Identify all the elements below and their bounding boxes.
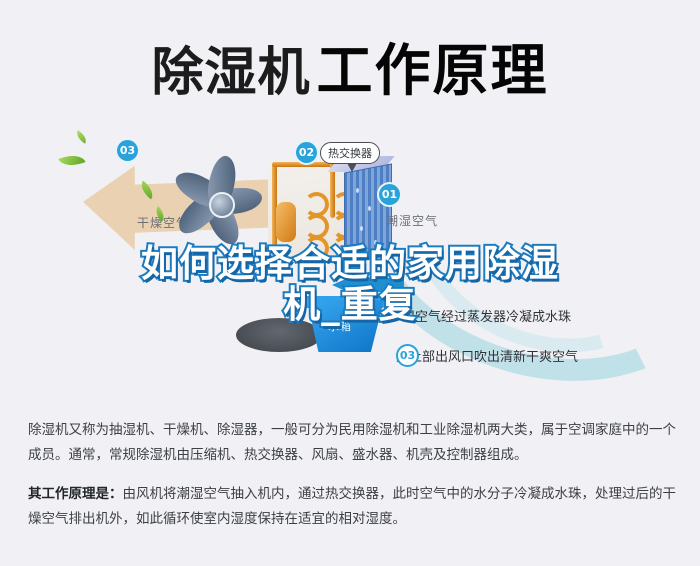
step-badge-03-right: 03 — [396, 344, 419, 367]
compressor-icon — [276, 202, 296, 242]
page-title-part2: 工作原理 — [317, 39, 549, 104]
body-paragraph-2-text: 由风机将潮湿空气抽入机内，通过热交换器，此时空气中的水分子冷凝成水珠，处理过后的… — [28, 486, 676, 527]
step-badge-03-left: 03 — [117, 140, 138, 161]
body-paragraph-2: 其工作原理是：由风机将潮湿空气抽入机内，通过热交换器，此时空气中的水分子冷凝成水… — [28, 482, 676, 532]
working-principle-diagram: 干燥空气 — [0, 118, 700, 408]
heat-exchanger-icon — [344, 163, 392, 264]
step2-description: 湿空气经过蒸发器冷凝成水珠 — [402, 306, 571, 325]
step-badge-02: 02 — [296, 142, 317, 163]
article-body: 除湿机又称为抽湿机、干燥机、除湿器，一般可分为民用除湿机和工业除湿机两大类，属于… — [28, 418, 676, 546]
fan-icon — [176, 158, 272, 250]
machine-base — [236, 318, 322, 352]
step3-row: 03 从上部出风口吹出清新干爽空气 — [396, 346, 578, 365]
coil-icon — [304, 236, 329, 261]
step3-description: 从上部出风口吹出清新干爽空气 — [396, 346, 578, 365]
body-paragraph-2-lead: 其工作原理是： — [28, 486, 123, 502]
leaf-icon — [74, 130, 89, 143]
leaf-icon — [58, 150, 85, 171]
refrigerant-pipe-icon — [272, 162, 334, 167]
body-paragraph-1: 除湿机又称为抽湿机、干燥机、除湿器，一般可分为民用除湿机和工业除湿机两大类，属于… — [28, 418, 676, 468]
infographic-page: 除湿机工作原理 干燥空气 — [0, 0, 700, 566]
heat-exchanger-callout: 热交换器 — [320, 142, 380, 164]
water-tank-label: 水箱 — [328, 318, 352, 334]
step-badge-01: 01 — [379, 184, 400, 205]
wet-air-label: 潮湿空气 — [386, 212, 438, 229]
inlet-air-arrow-icon — [332, 278, 404, 292]
page-title: 除湿机工作原理 — [0, 26, 700, 107]
page-title-part1: 除湿机 — [151, 43, 310, 103]
